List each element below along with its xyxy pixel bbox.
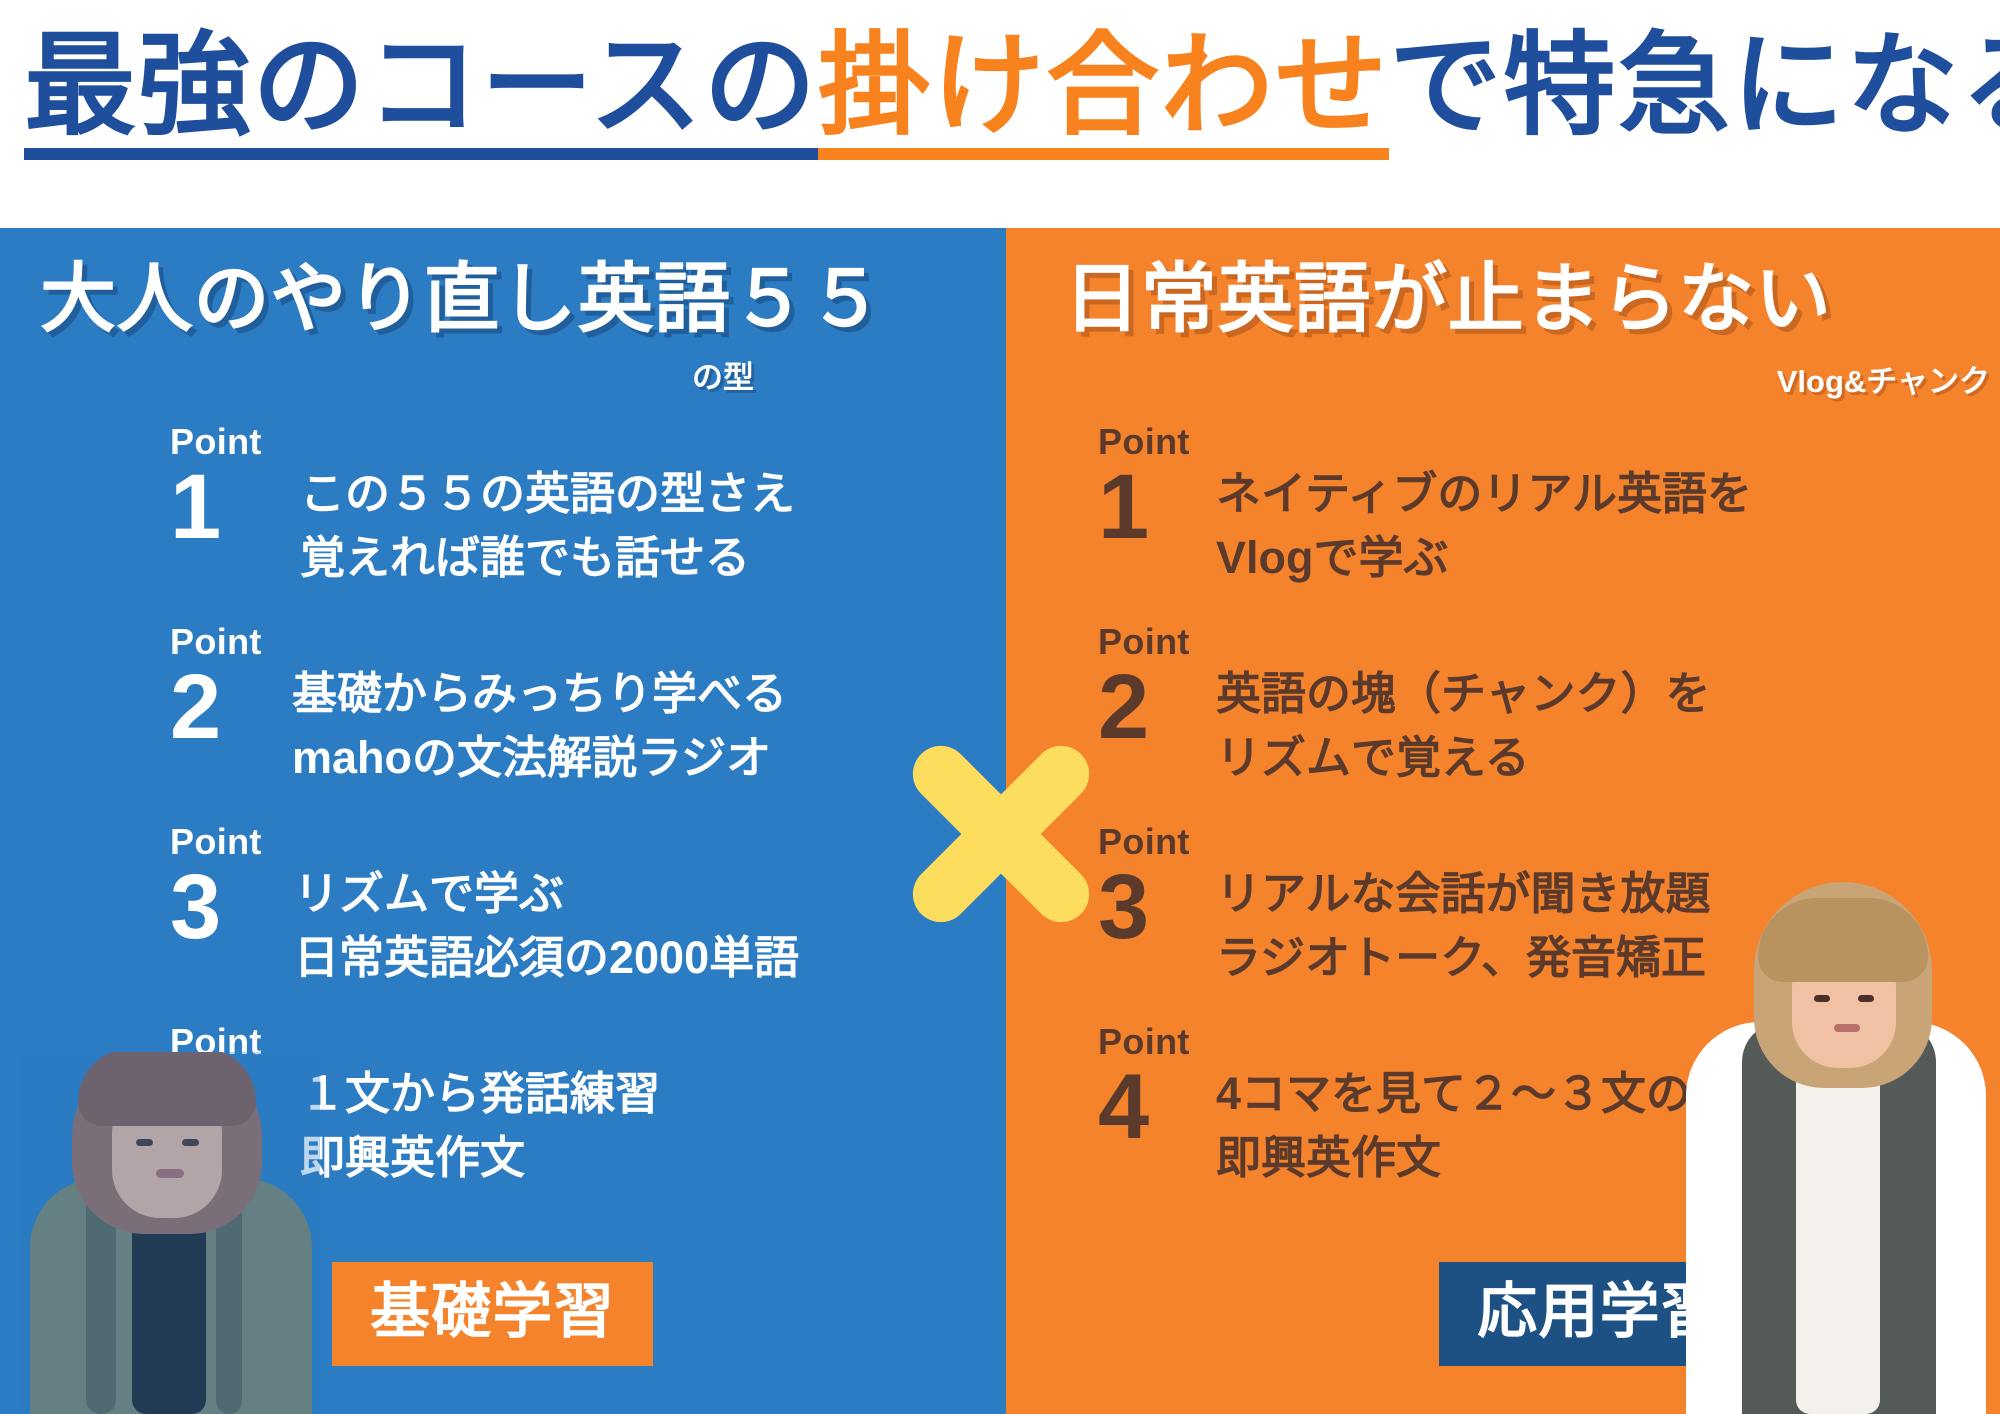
point-text-line-1: リアルな会話が聞き放題 (1216, 862, 1711, 926)
point-text-line-2: 日常英語必須の2000単語 (294, 926, 799, 990)
point-kicker-label: Point (170, 824, 320, 860)
point-text-line-1: 基礎からみっちり学べる (292, 662, 787, 726)
left-instructor-photo (20, 1052, 320, 1414)
point-text-line-1: 英語の塊（チャンク）を (1216, 662, 1711, 726)
point-text: 英語の塊（チャンク）を リズムで覚える (1216, 662, 1711, 790)
list-item: Point 2 基礎からみっちり学べる mahoの文法解説ラジオ (0, 624, 1006, 824)
point-text: リアルな会話が聞き放題 ラジオトーク、発音矯正 (1216, 862, 1711, 990)
headline-bar: 最強のコースの掛け合わせで特急になる！ (0, 0, 2000, 228)
list-item: Point 3 リズムで学ぶ 日常英語必須の2000単語 (0, 824, 1006, 1024)
slide-root: 最強のコースの掛け合わせで特急になる！ 大人のやり直し英語５５ の型 Point… (0, 0, 2000, 1414)
point-text-line-1: リズムで学ぶ (294, 862, 799, 926)
headline-segment-3: で特急になる！ (1389, 30, 2000, 160)
point-text-line-2: 覚えれば誰でも話せる (300, 526, 795, 590)
left-panel-subtitle: の型 (692, 352, 754, 397)
point-text-line-2: リズムで覚える (1216, 726, 1711, 790)
status-badge-basic: 基礎学習 (332, 1262, 653, 1366)
point-text-line-2: mahoの文法解説ラジオ (292, 726, 787, 790)
list-item: Point 2 英語の塊（チャンク）を リズムで覚える (1006, 624, 2000, 824)
headline-segment-highlight: 掛け合わせ (818, 30, 1389, 160)
point-text-line-2: 即興英作文 (1216, 1126, 1691, 1190)
point-kicker-label: Point (1098, 1024, 1248, 1060)
point-text-line-2: 即興英作文 (300, 1126, 660, 1190)
point-text-line-1: １文から発話練習 (300, 1062, 660, 1126)
point-text: この５５の英語の型さえ 覚えれば誰でも話せる (300, 462, 795, 590)
point-text: 基礎からみっちり学べる mahoの文法解説ラジオ (292, 662, 787, 790)
point-number: 1 (170, 464, 320, 551)
point-text-line-1: ネイティブのリアル英語を (1216, 462, 1752, 526)
right-panel-subtitle: Vlog&チャンク (1777, 356, 1990, 401)
point-text-line-2: Vlogで学ぶ (1216, 526, 1752, 590)
point-text: 4コマを見て２〜３文の 即興英作文 (1216, 1062, 1691, 1190)
right-panel-title: 日常英語が止まらない (1006, 260, 2000, 340)
left-panel-title: 大人のやり直し英語５５ (0, 260, 1006, 340)
point-text-line-1: この５５の英語の型さえ (300, 462, 795, 526)
point-kicker-label: Point (170, 624, 320, 660)
right-course-panel: 日常英語が止まらない Vlog&チャンク Point 1 ネイティブのリアル英語… (1006, 228, 2000, 1414)
point-kicker-label: Point (1098, 824, 1248, 860)
point-badge: Point 1 (170, 424, 320, 551)
list-item: Point 1 ネイティブのリアル英語を Vlogで学ぶ (1006, 424, 2000, 624)
page-title: 最強のコースの掛け合わせで特急になる！ (24, 30, 1984, 160)
point-kicker-label: Point (1098, 624, 1248, 660)
point-text: １文から発話練習 即興英作文 (300, 1062, 660, 1190)
point-kicker-label: Point (1098, 424, 1248, 460)
headline-segment-1: 最強のコースの (24, 30, 818, 160)
left-course-panel: 大人のやり直し英語５５ の型 Point 1 この５５の英語の型さえ 覚えれば誰… (0, 228, 1006, 1414)
point-text: ネイティブのリアル英語を Vlogで学ぶ (1216, 462, 1752, 590)
point-kicker-label: Point (170, 424, 320, 460)
point-text: リズムで学ぶ 日常英語必須の2000単語 (294, 862, 799, 990)
point-text-line-2: ラジオトーク、発音矯正 (1216, 926, 1711, 990)
right-instructor-photo (1670, 854, 2000, 1414)
list-item: Point 1 この５５の英語の型さえ 覚えれば誰でも話せる (0, 424, 1006, 624)
point-text-line-1: 4コマを見て２〜３文の (1216, 1062, 1691, 1126)
